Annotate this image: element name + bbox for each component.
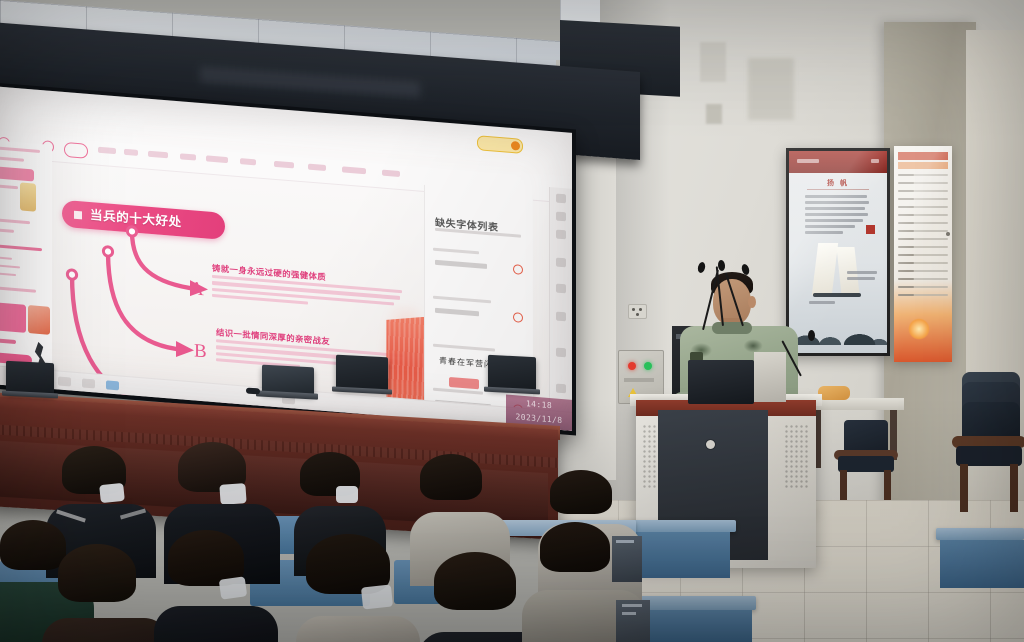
rail-icon-1[interactable] (556, 194, 566, 204)
podium-emblem (706, 440, 715, 449)
status-button-1[interactable] (58, 376, 71, 386)
podium-document (754, 352, 786, 402)
slide-left-sidebar[interactable] (0, 140, 52, 389)
status-button-active[interactable] (106, 380, 119, 390)
missing-status-icon (513, 312, 523, 323)
marker-letter-b: B (194, 340, 207, 363)
rail-icon-2[interactable] (556, 212, 566, 222)
rail-icon-4[interactable] (556, 258, 566, 268)
toolbar-chip[interactable] (64, 142, 88, 159)
toolbar-text (180, 153, 196, 160)
toolbar-text (206, 155, 228, 163)
font-row[interactable]: 青春在军营闪光 (433, 344, 525, 351)
rail-icon-6[interactable] (556, 312, 566, 322)
vertical-roster-poster (894, 146, 952, 362)
missing-status-icon (513, 264, 523, 275)
armchair (952, 372, 1024, 512)
wall-blemish (748, 58, 794, 120)
font-row[interactable] (433, 296, 525, 303)
presenter-collar (712, 322, 752, 334)
toolbar-text (124, 149, 138, 156)
podium-speaker-grille (784, 424, 810, 490)
student-desk (620, 520, 736, 532)
toolbar-text (274, 161, 294, 169)
food-on-table (818, 386, 850, 400)
framed-sailboat-poster: 扬 帆 (786, 148, 890, 356)
classroom-photo-scene: 当兵的十大好处 A B C 铸就一身永远过硬的强健体 (0, 0, 1024, 642)
armchair (838, 420, 894, 492)
rail-icon-7[interactable] (556, 348, 566, 358)
brand-pill-logo (477, 135, 523, 154)
wall-blemish (700, 42, 726, 82)
toolbar-text (240, 158, 256, 165)
student-desk-front (940, 540, 1024, 588)
podium-monitor (688, 360, 754, 404)
glass-reflection (789, 151, 887, 353)
laptop (336, 355, 388, 392)
student-desk (936, 528, 1024, 540)
status-button-2[interactable] (82, 378, 95, 388)
wall-outlet (628, 304, 647, 319)
rail-icon-8[interactable] (556, 384, 566, 394)
marker-letter-a: A (190, 278, 204, 301)
power-indicator-red-icon (628, 362, 636, 370)
wall-blemish (706, 104, 722, 124)
rail-icon-5[interactable] (556, 284, 566, 294)
toolbar-text (342, 166, 366, 174)
toolbar-text (148, 151, 168, 159)
control-box-label (624, 378, 654, 382)
toolbar-text (98, 147, 116, 154)
ready-indicator-green-icon (644, 362, 652, 370)
toolbar-text (382, 170, 400, 177)
rail-icon-3[interactable] (556, 230, 566, 240)
toolbar-text (308, 164, 326, 171)
glass-reflection (894, 146, 952, 362)
microphone-head (808, 330, 815, 341)
presenter-ear (748, 296, 756, 308)
laptop (488, 355, 536, 392)
laptop (6, 361, 54, 396)
font-row[interactable] (433, 248, 525, 255)
mouse (246, 388, 260, 395)
slide-tool-rail[interactable] (549, 187, 572, 431)
apply-fonts-button[interactable] (449, 377, 479, 389)
